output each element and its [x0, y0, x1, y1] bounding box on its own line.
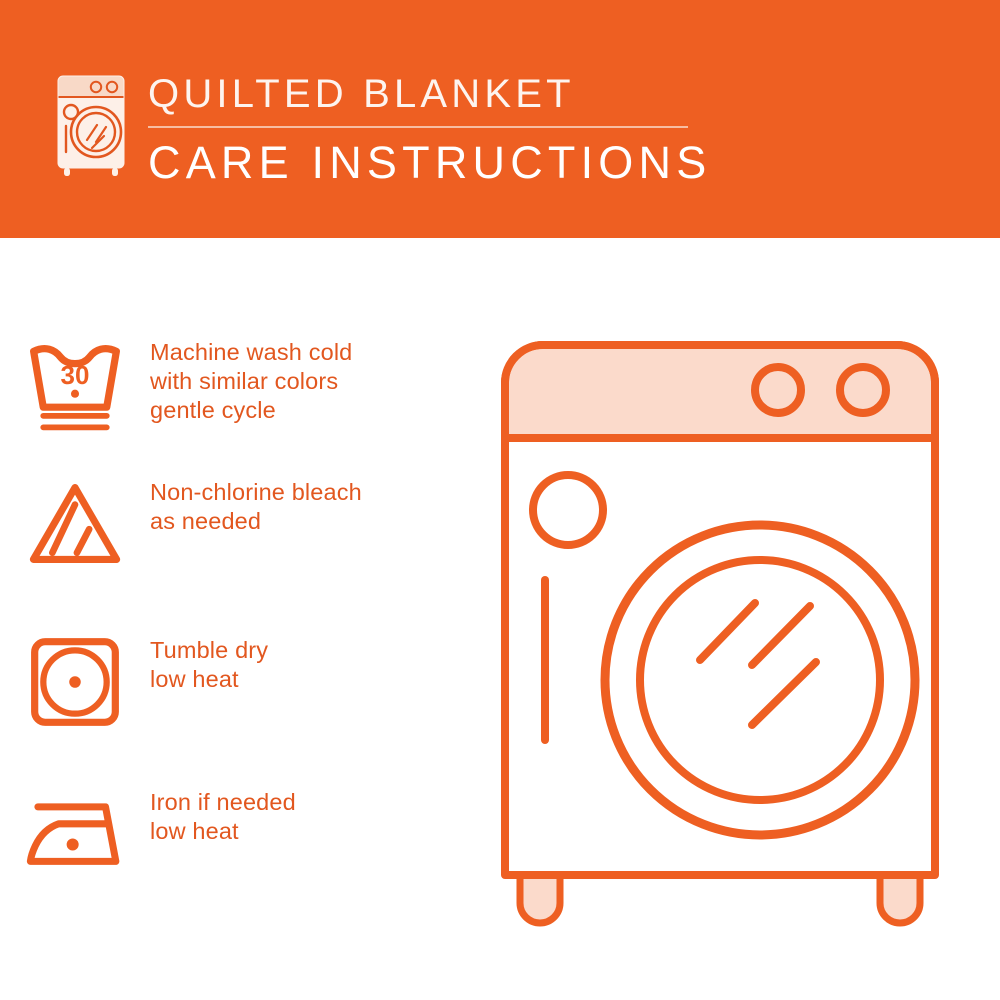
page-title-primary: QUILTED BLANKET: [148, 70, 708, 118]
care-instruction-item: Non-chlorine bleach as needed: [0, 476, 470, 571]
care-instruction-item: Iron if needed low heat: [0, 786, 470, 871]
front-load-washing-machine-illustration: [480, 320, 980, 950]
care-text-line: gentle cycle: [150, 396, 352, 425]
care-text-line: Non-chlorine bleach: [150, 478, 362, 507]
care-instruction-item: Tumble dry low heat: [0, 634, 470, 730]
care-instruction-text: Non-chlorine bleach as needed: [150, 476, 362, 536]
tumble-dry-low-icon: [0, 634, 150, 730]
care-instruction-text: Iron if needed low heat: [150, 786, 296, 846]
care-instruction-text: Machine wash cold with similar colors ge…: [150, 336, 352, 425]
low-heat-dot: [67, 838, 79, 850]
care-instruction-item: 30 Machine wash cold with similar colors…: [0, 336, 470, 437]
title-divider: [148, 126, 688, 128]
wash-temperature-value: 30: [61, 360, 90, 390]
low-heat-dot: [69, 676, 81, 688]
care-text-line: Tumble dry: [150, 636, 268, 665]
machine-wash-30-gentle-icon: 30: [0, 336, 150, 437]
care-instruction-text: Tumble dry low heat: [150, 634, 268, 694]
care-text-line: low heat: [150, 665, 268, 694]
non-chlorine-bleach-icon: [0, 476, 150, 571]
care-text-line: as needed: [150, 507, 362, 536]
care-instruction-list: 30 Machine wash cold with similar colors…: [0, 238, 470, 1000]
gentle-cycle-dot: [71, 390, 79, 398]
washing-machine-icon: [44, 68, 132, 176]
care-text-line: low heat: [150, 817, 296, 846]
control-panel: [509, 349, 931, 438]
care-text-line: Machine wash cold: [150, 338, 352, 367]
care-text-line: Iron if needed: [150, 788, 296, 817]
care-text-line: with similar colors: [150, 367, 352, 396]
page-title-secondary: CARE INSTRUCTIONS: [148, 137, 708, 189]
iron-low-heat-icon: [0, 786, 150, 871]
header-banner: QUILTED BLANKET CARE INSTRUCTIONS: [0, 0, 1000, 238]
header-title-block: QUILTED BLANKET CARE INSTRUCTIONS: [148, 70, 708, 189]
